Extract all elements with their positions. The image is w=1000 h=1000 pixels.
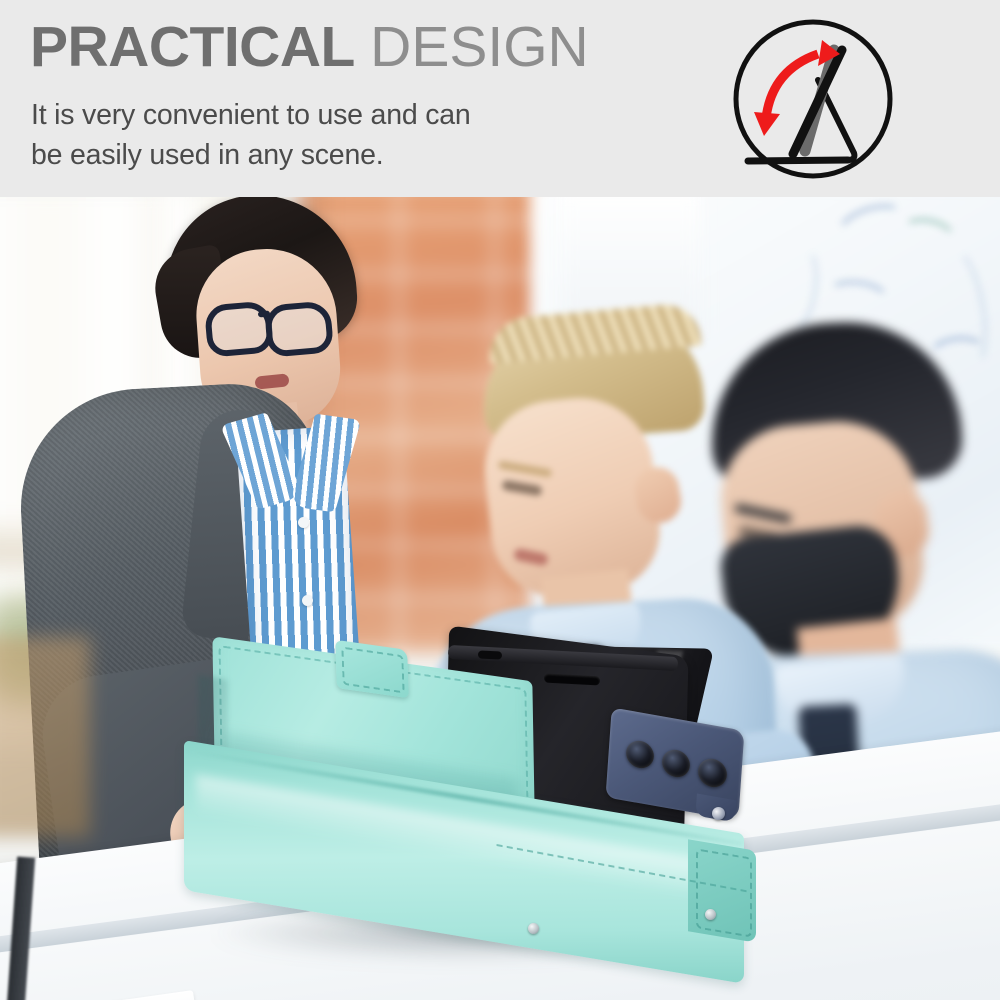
page-title: PRACTICAL DESIGN <box>30 16 589 78</box>
woman-eyeglasses-left-lens <box>204 300 274 358</box>
woman-eyeglasses-bridge <box>258 310 270 317</box>
background-chair <box>0 637 90 837</box>
case-rivet <box>528 923 539 934</box>
subtitle: It is very convenient to use and can be … <box>31 95 471 175</box>
case-rivet <box>705 909 716 920</box>
wallet-phone-case <box>196 637 756 967</box>
product-banner: PRACTICAL DESIGN It is very convenient t… <box>0 0 1000 1000</box>
header-band: PRACTICAL DESIGN It is very convenient t… <box>0 0 1000 197</box>
phone-microphone-cutout <box>478 650 502 659</box>
subtitle-line-1: It is very convenient to use and can <box>31 99 471 131</box>
headline-light: DESIGN <box>370 15 589 79</box>
woman-eyeglasses-right-lens <box>264 300 334 358</box>
kickstand-adjustable-angle-icon <box>730 14 900 184</box>
woman-shirt-button <box>298 517 309 528</box>
subtitle-line-2: be easily used in any scene. <box>31 135 471 175</box>
woman-shirt-button <box>302 595 313 606</box>
product-lifestyle-photo <box>0 197 1000 1000</box>
camera-flash <box>712 807 725 820</box>
headline-strong: PRACTICAL <box>30 15 355 79</box>
